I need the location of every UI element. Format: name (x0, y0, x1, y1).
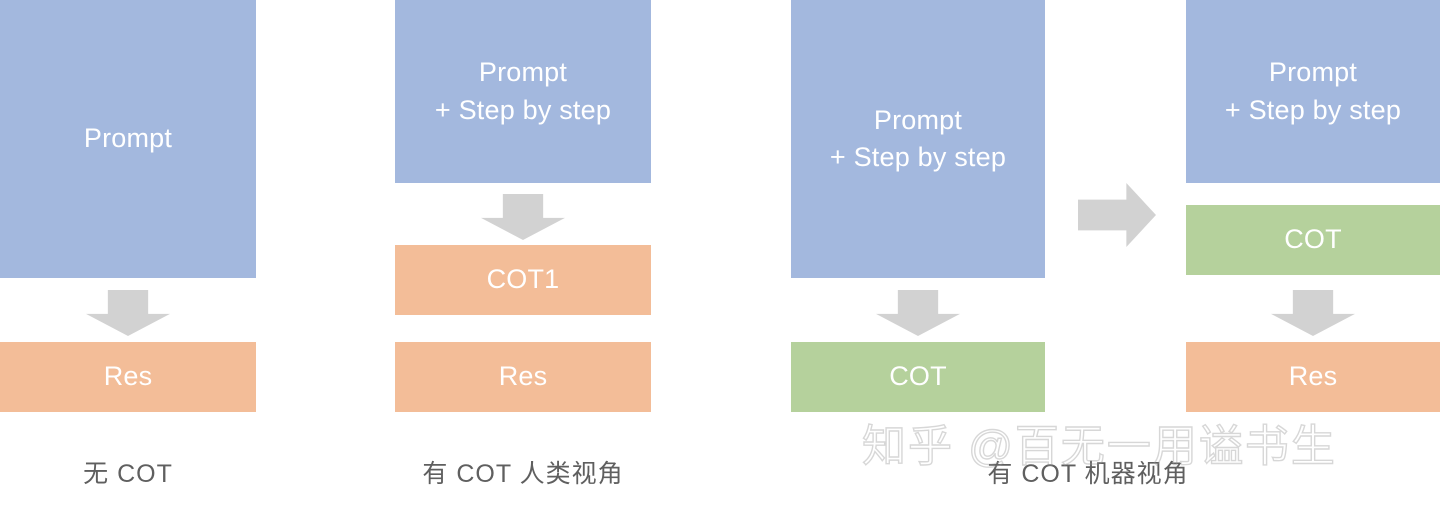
caption-no-cot: 无 COT (0, 459, 256, 489)
zhihu-watermark: 知乎 @百无一用谥书生 (862, 425, 1337, 469)
arrow-down-icon-prompt-to-res-no-cot (86, 290, 170, 336)
node-res-no-cot: Res (0, 342, 256, 412)
node-res-cot-human: Res (395, 342, 651, 412)
arrow-down-icon-prompt-to-cot-machine (876, 290, 960, 336)
node-prompt-cot-machine-2: Prompt + Step by step (1186, 0, 1440, 183)
node-cot1-cot-human: COT1 (395, 245, 651, 315)
arrow-down-icon-prompt-to-cot1 (481, 194, 565, 240)
arrow-down-icon-cot-to-res-machine (1271, 290, 1355, 336)
node-cot-cot-machine-1: COT (791, 342, 1045, 412)
node-res-cot-machine-2: Res (1186, 342, 1440, 412)
caption-cot-human: 有 COT 人类视角 (395, 459, 651, 489)
node-prompt-cot-machine-1: Prompt + Step by step (791, 0, 1045, 278)
node-cot-cot-machine-2: COT (1186, 205, 1440, 275)
node-prompt-no-cot: Prompt (0, 0, 256, 278)
diagram-canvas: Prompt Res 无 COT Prompt + Step by step C… (0, 0, 1440, 514)
node-prompt-cot-human: Prompt + Step by step (395, 0, 651, 183)
arrow-right-icon-stage-transition (1078, 183, 1156, 247)
